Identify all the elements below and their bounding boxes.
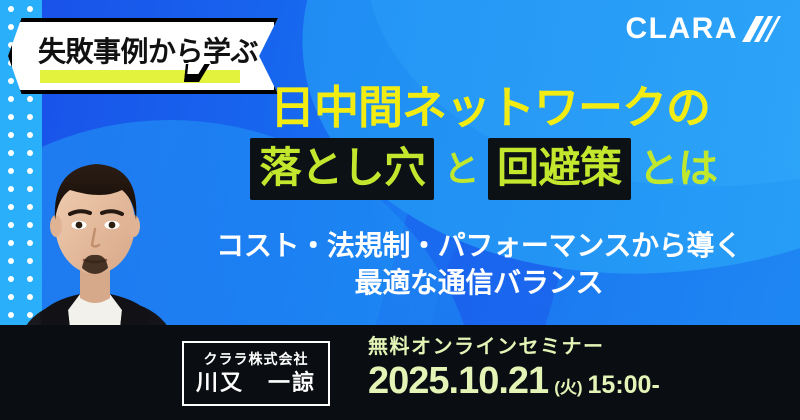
subtitle-line-2: 最適な通信バランス bbox=[158, 265, 800, 302]
speaker-name: 川又 一諒 bbox=[196, 370, 316, 395]
decorative-dot bbox=[27, 6, 33, 12]
speaker-plaque: クララ株式会社 川又 一諒 bbox=[182, 341, 330, 406]
decorative-dot bbox=[8, 6, 14, 12]
event-kicker: 無料オンラインセミナー bbox=[368, 336, 788, 358]
clara-logo-text: CLARA bbox=[626, 14, 739, 44]
event-date: 2025.10.21 bbox=[368, 362, 548, 400]
headline-keyword-countermeasures: 回避策 bbox=[488, 138, 631, 200]
subtitle-block: コスト・法規制・パフォーマンスから導く 最適な通信バランス bbox=[140, 228, 800, 302]
headline-line-2: 落とし穴 と 回避策 とは bbox=[150, 138, 790, 200]
badge-highlight-bar bbox=[40, 70, 240, 83]
event-date-row: 2025.10.21 (火) 15:00- bbox=[368, 362, 788, 400]
speaker-company: クララ株式会社 bbox=[204, 352, 309, 367]
headline-keyword-pitfalls: 落とし穴 bbox=[250, 138, 434, 200]
seminar-banner: CLARA 失敗事例から学ぶ 日中間ネットワークの 落とし穴 と 回避策 とは … bbox=[0, 0, 800, 420]
subtitle-line-1: コスト・法規制・パフォーマンスから導く bbox=[158, 228, 800, 265]
event-info: 無料オンラインセミナー 2025.10.21 (火) 15:00- bbox=[368, 336, 788, 400]
decorative-dot bbox=[27, 114, 33, 120]
decorative-dot bbox=[8, 96, 14, 102]
headline-block: 日中間ネットワークの 落とし穴 と 回避策 とは bbox=[150, 84, 790, 200]
clara-logo: CLARA bbox=[626, 14, 783, 44]
badge-label: 失敗事例から学ぶ bbox=[38, 30, 253, 70]
decorative-dot bbox=[8, 114, 14, 120]
headline-line-1: 日中間ネットワークの bbox=[150, 84, 790, 131]
badge-tail-fill bbox=[187, 62, 205, 74]
headline-connector: と bbox=[440, 151, 482, 187]
event-time: 15:00- bbox=[588, 373, 660, 398]
event-day-of-week: (火) bbox=[548, 379, 587, 396]
decorative-dot bbox=[27, 96, 33, 102]
learn-from-failures-badge: 失敗事例から学ぶ bbox=[8, 18, 278, 94]
clara-diagonal-stripes-icon bbox=[740, 14, 782, 44]
headline-suffix: とは bbox=[637, 149, 718, 189]
